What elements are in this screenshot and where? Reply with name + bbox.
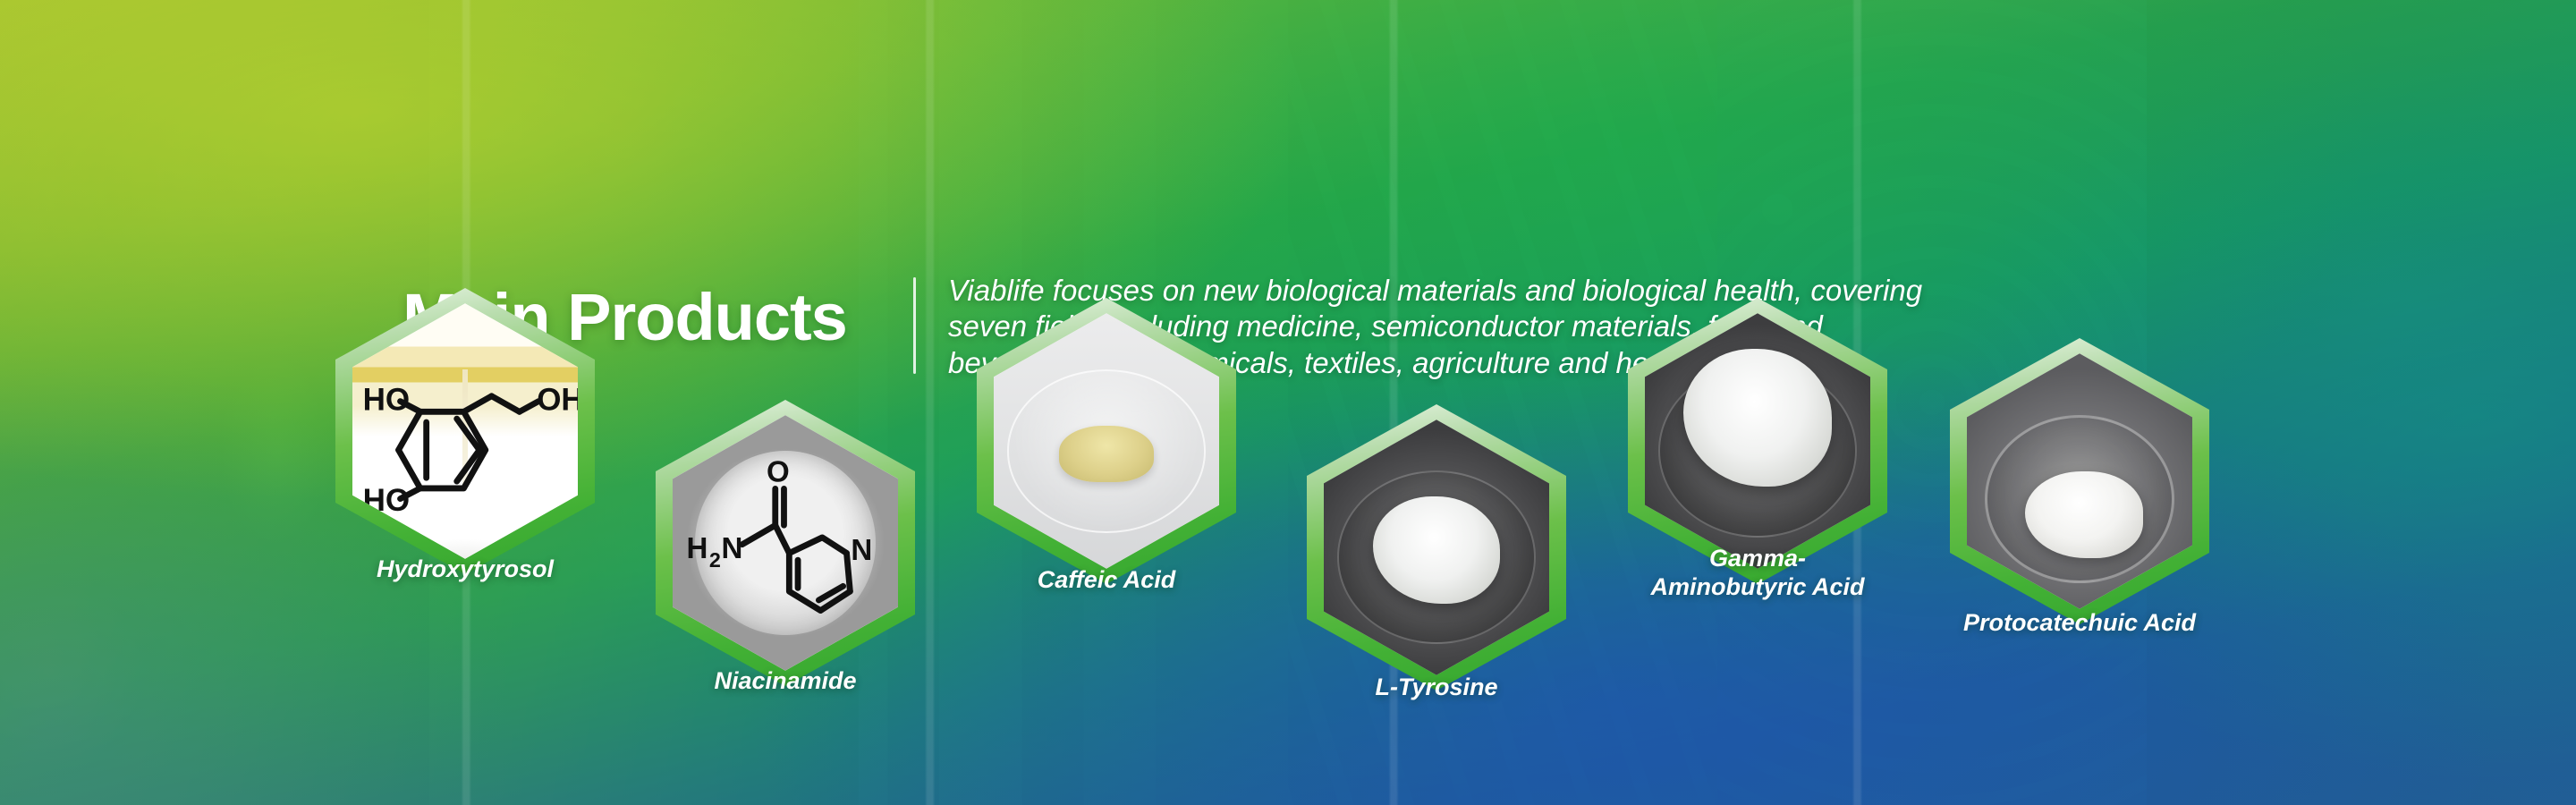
product-card-hydroxytyrosol[interactable]: HO HO OH	[335, 288, 595, 574]
chemical-structure-niacinamide: H 2 N O N	[673, 415, 899, 670]
product-photo-protocatechuic-acid-powder	[1967, 353, 2193, 608]
hexagon-image-area	[994, 313, 1220, 568]
svg-text:HO: HO	[362, 383, 410, 418]
product-label-niacinamide: Niacinamide	[656, 666, 915, 695]
product-card-l-tyrosine[interactable]	[1307, 404, 1566, 691]
hexagon-frame	[1628, 298, 1887, 584]
product-label-protocatechuic-acid: Protocatechuic Acid	[1928, 608, 2232, 637]
hexagon-image-area	[1967, 353, 2193, 608]
hexagon-image-area: HO HO OH	[352, 303, 579, 558]
product-label-gamma-aminobutyric-acid: Gamma- Aminobutyric Acid	[1601, 544, 1914, 602]
svg-text:HO: HO	[362, 483, 410, 518]
chemical-structure-hydroxytyrosol: HO HO OH	[352, 303, 579, 558]
banner-header: Main Products Viablife focuses on new bi…	[0, 134, 2576, 268]
product-label-hydroxytyrosol: Hydroxytyrosol	[335, 555, 595, 583]
hexagon-image-area	[1324, 419, 1550, 674]
hexagon-frame	[977, 298, 1236, 584]
product-card-protocatechuic-acid[interactable]	[1950, 338, 2209, 624]
svg-text:H: H	[686, 532, 708, 565]
hexagon-image-area: H 2 N O N	[673, 415, 899, 670]
product-photo-gaba-powder	[1645, 313, 1871, 568]
main-products-banner: Main Products Viablife focuses on new bi…	[0, 0, 2576, 805]
svg-text:N: N	[851, 534, 872, 567]
svg-text:O: O	[767, 456, 790, 489]
svg-text:2: 2	[708, 548, 720, 572]
product-photo-caffeic-acid-powder	[994, 313, 1220, 568]
title-divider	[913, 277, 916, 374]
product-photo-l-tyrosine-powder	[1324, 419, 1550, 674]
hexagon-frame: HO HO OH	[335, 288, 595, 574]
product-card-gamma-aminobutyric-acid[interactable]	[1628, 298, 1887, 584]
svg-text:OH: OH	[537, 383, 579, 418]
product-label-l-tyrosine: L-Tyrosine	[1307, 673, 1566, 701]
product-card-niacinamide[interactable]: H 2 N O N	[656, 400, 915, 686]
svg-text:N: N	[721, 532, 742, 565]
product-label-caffeic-acid: Caffeic Acid	[977, 565, 1236, 594]
hexagon-frame: H 2 N O N	[656, 400, 915, 686]
product-card-caffeic-acid[interactable]	[977, 298, 1236, 584]
hexagon-image-area	[1645, 313, 1871, 568]
hexagon-frame	[1307, 404, 1566, 691]
hexagon-frame	[1950, 338, 2209, 624]
